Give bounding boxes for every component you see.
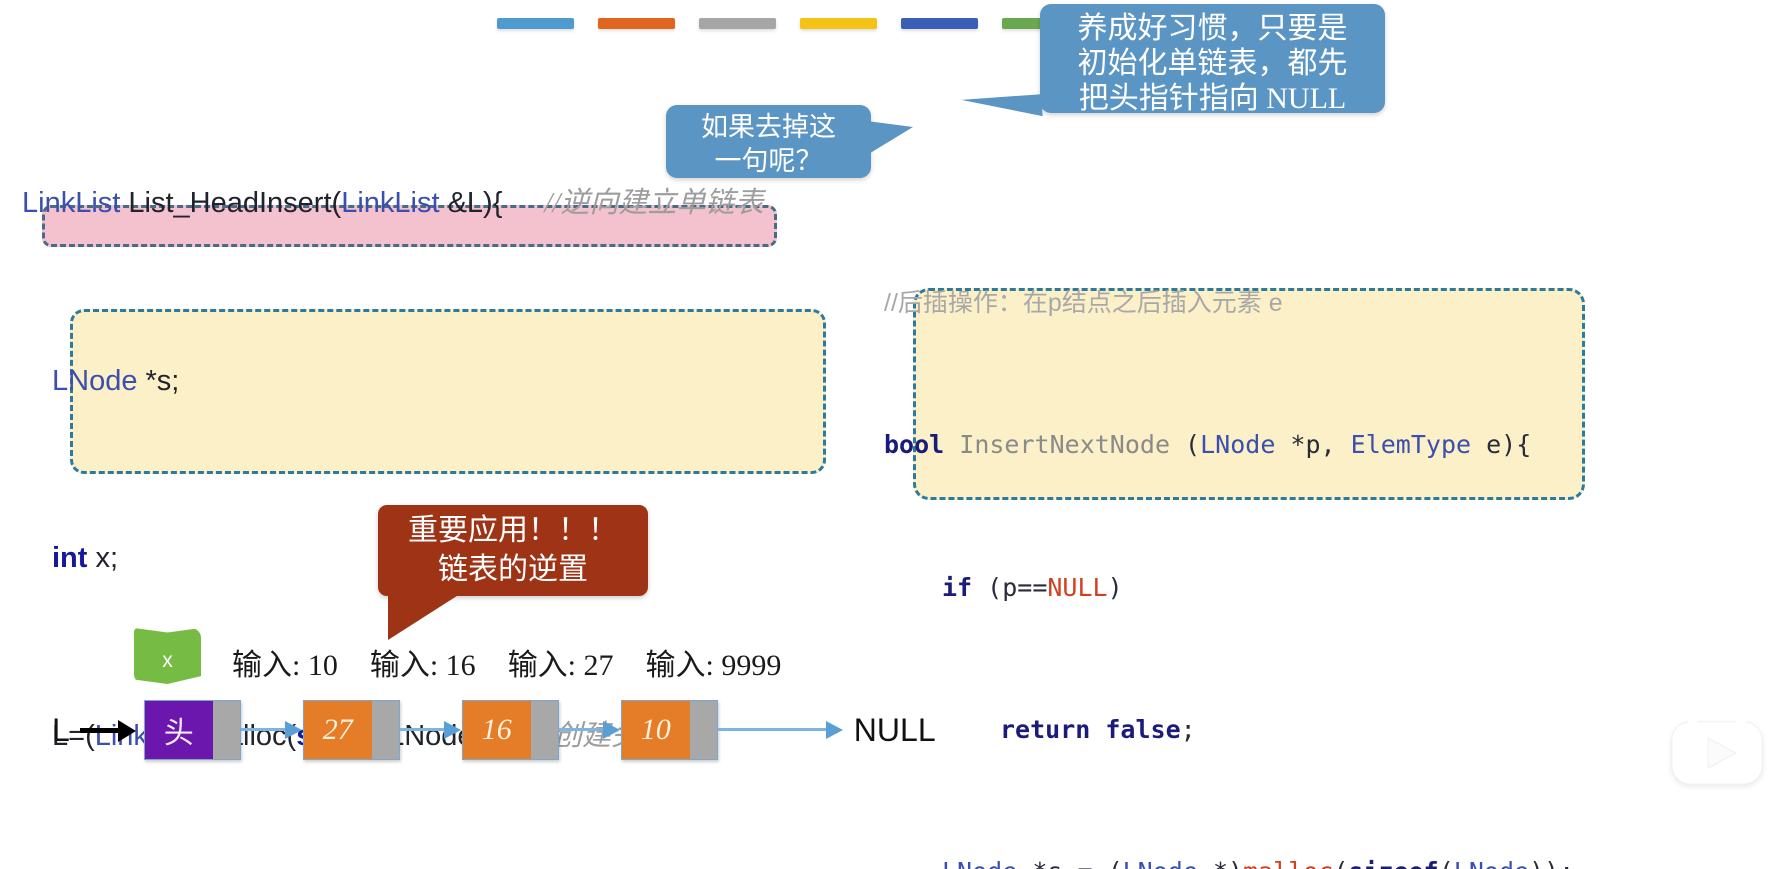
token-lnode-sz: LNode [1454, 857, 1529, 869]
comment-postinsert-header: //后插操作：在p结点之后插入元素 e [884, 289, 1283, 317]
list-node-2-pointer-cell [531, 701, 558, 759]
right-code-line-5: LNode *s = (LNode *)malloc(sizeof(LNode)… [884, 854, 1574, 869]
token-bool: bool [884, 430, 944, 459]
list-node-3: 10 [621, 700, 718, 760]
token-null-p: NULL [1047, 573, 1107, 602]
input-value-1: 输入: 10 [232, 640, 338, 684]
callout-important-line2: 链表的逆置 [378, 550, 648, 589]
token-false-1: false [1105, 715, 1180, 744]
list-node-2-value: 16 [463, 701, 531, 759]
right-code-line-3: if (p==NULL) [884, 570, 1574, 606]
token-elemtype: ElemType [1351, 430, 1471, 459]
comment-build-reverse: //逆向建立单链表 [544, 187, 763, 219]
callout-important-line1: 重要应用！！！ [378, 511, 648, 550]
token-if: if [942, 573, 972, 602]
slide-canvas: LinkList List_HeadInsert(LinkList &L){//… [0, 0, 1785, 869]
input-value-2: 输入: 16 [370, 640, 476, 684]
bar-yellow [800, 18, 877, 29]
token-lnode-p: LNode [1200, 430, 1275, 459]
callout-tail3-icon [388, 594, 460, 640]
list-tail-null-label: NULL [854, 712, 936, 749]
token-sizeof-r: sizeof [1348, 857, 1438, 869]
callout-remove-line1: 如果去掉这 [666, 110, 871, 144]
list-node-3-pointer-cell [690, 701, 717, 759]
list-arrow-3-icon [559, 721, 621, 739]
right-code-line-2: bool InsertNextNode (LNode *p, ElemType … [884, 427, 1574, 463]
token-malloc-r: malloc [1243, 857, 1333, 869]
input-value-4: 输入: 9999 [646, 640, 782, 684]
token-lnode-cast: LNode [1123, 857, 1198, 869]
bar-blue [497, 18, 574, 29]
list-arrow-2-icon [400, 721, 462, 739]
token-insertnextnode: InsertNextNode [959, 430, 1170, 459]
flag-label: x [162, 649, 173, 672]
token-int: int [52, 542, 87, 574]
callout-remove-line: 如果去掉这 一句呢？ [666, 105, 871, 178]
list-node-1-pointer-cell [372, 701, 399, 759]
bilibili-tv-logo-icon [1662, 700, 1772, 792]
callout-good-habit-line1: 养成好习惯，只要是 [1040, 11, 1385, 46]
token-return-kw-1: return [1000, 715, 1090, 744]
list-node-1-value: 27 [304, 701, 372, 759]
linked-list-diagram: L 头 27 16 10 [52, 700, 936, 760]
token-linklist: LinkList [22, 187, 120, 219]
list-node-head: 头 [144, 700, 241, 760]
green-flag-icon: x [134, 628, 201, 684]
list-node-2: 16 [462, 700, 559, 760]
callout-important-application: 重要应用！！！ 链表的逆置 [378, 505, 648, 596]
code-line-1: LinkList List_HeadInsert(LinkList &L){//… [22, 181, 764, 225]
token-return-false-1: return false [1000, 715, 1181, 744]
bar-darkblue [901, 18, 978, 29]
list-arrow-null-icon [718, 721, 846, 739]
callout-good-habit-line2: 初始化单链表，都先 [1040, 46, 1385, 81]
input-sequence: 输入: 10 输入: 16 输入: 27 输入: 9999 [232, 640, 781, 684]
head-pointer-arrow-icon [80, 719, 136, 741]
token-lnode: LNode [52, 365, 137, 397]
input-value-3: 输入: 27 [508, 640, 614, 684]
list-node-3-value: 10 [622, 701, 690, 759]
callout-good-habit-line3: 把头指针指向 NULL [1040, 81, 1385, 116]
list-node-head-pointer-cell [213, 701, 240, 759]
callout-good-habit: 养成好习惯，只要是 初始化单链表，都先 把头指针指向 NULL [1040, 4, 1385, 113]
token-linklist-param: LinkList [341, 187, 439, 219]
callout-remove-line2: 一句呢？ [666, 144, 871, 178]
list-node-1: 27 [303, 700, 400, 760]
bar-orange [598, 18, 675, 29]
bar-gray [699, 18, 776, 29]
top-color-bars [497, 18, 1079, 29]
code-line-2: LNode *s; [22, 359, 764, 403]
callout-tail-icon [961, 94, 1042, 122]
right-code-block: //后插操作：在p结点之后插入元素 e bool InsertNextNode … [884, 178, 1574, 869]
token-func-name: List_HeadInsert [128, 187, 331, 219]
list-node-head-label: 头 [145, 701, 213, 759]
list-head-pointer-label: L [52, 712, 70, 749]
callout-tail2-icon [867, 121, 913, 155]
right-code-line-4: return false; [884, 712, 1574, 748]
list-arrow-1-icon [241, 721, 303, 739]
right-code-line-1: //后插操作：在p结点之后插入元素 e [884, 285, 1574, 321]
token-lnode-s: LNode [942, 857, 1017, 869]
